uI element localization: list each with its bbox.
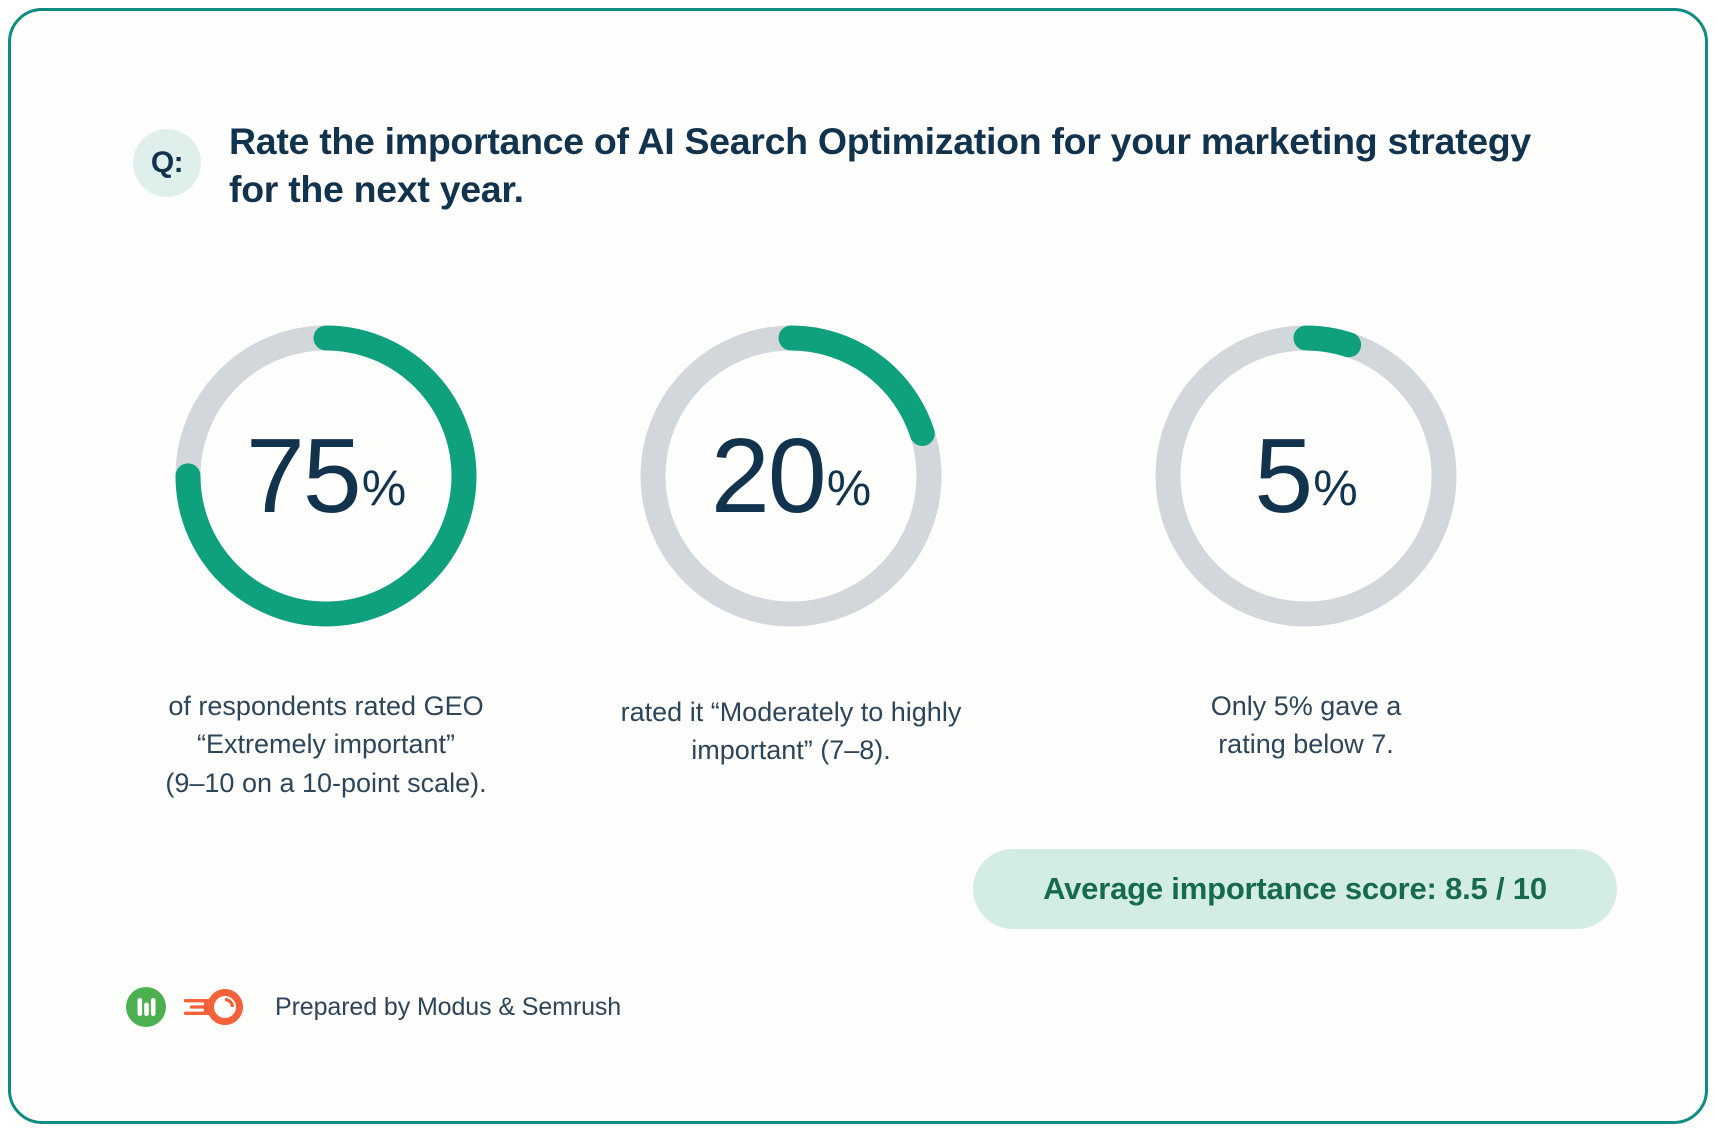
donut-chart-20: 20 % <box>626 311 956 641</box>
donut-svg-5 <box>1141 311 1471 641</box>
stats-row: 75 % of respondents rated GEO “Extremely… <box>111 311 1591 802</box>
stat-block-3: 5 % Only 5% gave a rating below 7. <box>1041 311 1571 764</box>
stat-caption-3: Only 5% gave a rating below 7. <box>1211 687 1402 764</box>
question-badge: Q: <box>133 129 201 197</box>
footer-credit: Prepared by Modus & Semrush <box>275 993 621 1022</box>
average-score-label: Average importance score: 8.5 / 10 <box>1043 871 1547 907</box>
stat-block-2: 20 % rated it “Moderately to highly impo… <box>541 311 1041 770</box>
stat-caption-1: of respondents rated GEO “Extremely impo… <box>165 687 486 802</box>
footer: Prepared by Modus & Semrush <box>125 985 621 1029</box>
donut-svg-20 <box>626 311 956 641</box>
donut-chart-75: 75 % <box>161 311 491 641</box>
question-badge-label: Q: <box>151 146 183 180</box>
modus-logo-icon <box>125 986 167 1028</box>
donut-chart-5: 5 % <box>1141 311 1471 641</box>
stat-block-1: 75 % of respondents rated GEO “Extremely… <box>111 311 541 802</box>
stat-caption-2: rated it “Moderately to highly important… <box>621 693 962 770</box>
question-header: Q: Rate the importance of AI Search Opti… <box>133 117 1553 213</box>
infographic-card: Q: Rate the importance of AI Search Opti… <box>8 8 1708 1124</box>
average-score-badge: Average importance score: 8.5 / 10 <box>973 849 1617 929</box>
donut-track-5 <box>1168 338 1444 614</box>
donut-svg-75 <box>161 311 491 641</box>
page-title: Rate the importance of AI Search Optimiz… <box>229 117 1553 213</box>
semrush-logo-icon <box>181 985 247 1029</box>
